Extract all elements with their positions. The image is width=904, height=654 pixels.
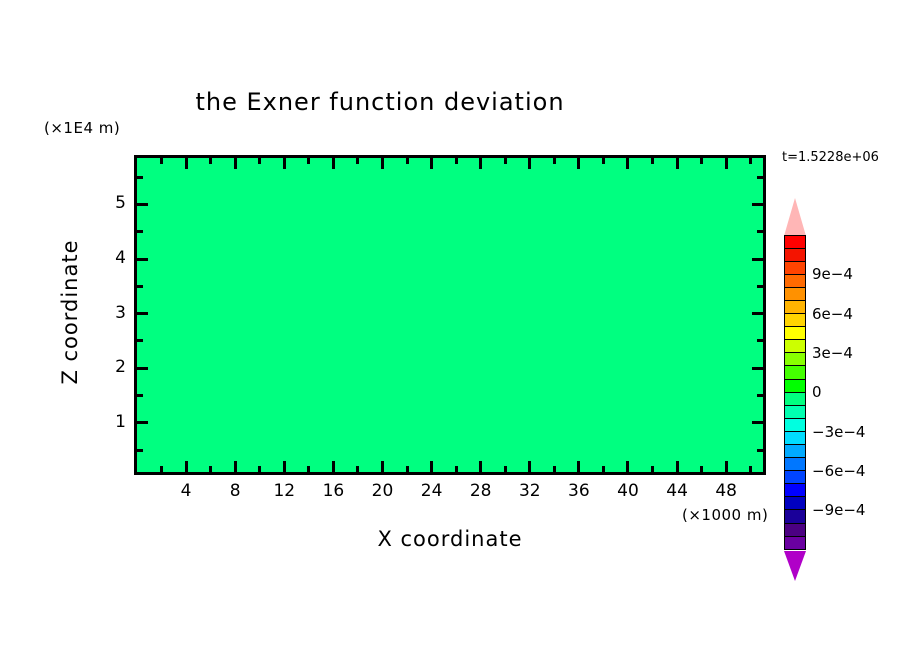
x-axis-tick-minor bbox=[160, 466, 163, 472]
y-axis-tick-label: 3 bbox=[96, 303, 126, 323]
colorbar-tick-label: −9e−4 bbox=[812, 501, 865, 519]
x-axis-tick-major bbox=[577, 461, 580, 472]
timestamp-annotation: t=1.5228e+06 bbox=[782, 150, 879, 165]
y-axis-tick-minor bbox=[137, 394, 143, 397]
x-axis-tick-major bbox=[676, 461, 679, 472]
colorbar-tick-label: −6e−4 bbox=[812, 462, 865, 480]
x-axis-tick-label: 48 bbox=[706, 481, 746, 501]
x-axis-tick-minor-top bbox=[602, 158, 605, 164]
x-axis-tick-label: 44 bbox=[657, 481, 697, 501]
y-axis-tick-major bbox=[137, 312, 148, 315]
x-axis-tick-minor-top bbox=[258, 158, 261, 164]
x-axis-tick-minor-top bbox=[209, 158, 212, 164]
x-axis-tick-minor bbox=[209, 466, 212, 472]
colorbar-tick-label: 6e−4 bbox=[812, 305, 853, 323]
x-axis-tick-major bbox=[725, 461, 728, 472]
y-axis-tick-major bbox=[137, 367, 148, 370]
x-axis-tick-label: 24 bbox=[412, 481, 452, 501]
contour-field bbox=[137, 158, 763, 472]
x-axis-tick-major-top bbox=[626, 158, 629, 169]
x-axis-tick-minor-top bbox=[749, 158, 752, 164]
y-axis-tick-minor bbox=[137, 285, 143, 288]
x-axis-tick-label: 8 bbox=[215, 481, 255, 501]
x-axis-tick-major-top bbox=[725, 158, 728, 169]
x-axis-tick-minor bbox=[553, 466, 556, 472]
x-axis-tick-minor bbox=[455, 466, 458, 472]
x-axis-tick-minor bbox=[406, 466, 409, 472]
colorbar-cap-bottom-icon bbox=[784, 551, 806, 581]
colorbar-tick-label: 3e−4 bbox=[812, 344, 853, 362]
x-axis-tick-minor bbox=[504, 466, 507, 472]
y-axis-tick-minor-right bbox=[757, 339, 763, 342]
x-axis-tick-minor bbox=[700, 466, 703, 472]
y-axis-tick-minor-right bbox=[757, 176, 763, 179]
figure-title: the Exner function deviation bbox=[0, 88, 760, 116]
x-axis-tick-major-top bbox=[185, 158, 188, 169]
x-axis-tick-major-top bbox=[676, 158, 679, 169]
x-axis-tick-label: 12 bbox=[264, 481, 304, 501]
y-axis-tick-minor-right bbox=[757, 394, 763, 397]
colorbar-tick-label: 9e−4 bbox=[812, 265, 853, 283]
y-axis-tick-major-right bbox=[752, 203, 763, 206]
x-axis-tick-label: 4 bbox=[166, 481, 206, 501]
x-axis-tick-label: 28 bbox=[461, 481, 501, 501]
x-axis-tick-minor-top bbox=[455, 158, 458, 164]
colorbar-tick-label: −3e−4 bbox=[812, 423, 865, 441]
x-axis-tick-minor bbox=[651, 466, 654, 472]
x-axis-tick-major bbox=[185, 461, 188, 472]
x-axis-tick-major bbox=[381, 461, 384, 472]
contour-plot-area bbox=[134, 155, 766, 475]
y-axis-tick-minor bbox=[137, 339, 143, 342]
y-axis-tick-minor bbox=[137, 230, 143, 233]
y-axis-tick-minor-right bbox=[757, 230, 763, 233]
x-axis-tick-minor-top bbox=[307, 158, 310, 164]
x-axis-title: X coordinate bbox=[134, 527, 766, 551]
x-axis-tick-major-top bbox=[234, 158, 237, 169]
colorbar-tick-label: 0 bbox=[812, 383, 822, 401]
y-axis-tick-major-right bbox=[752, 258, 763, 261]
y-axis-tick-minor-right bbox=[757, 449, 763, 452]
y-axis-tick-major-right bbox=[752, 367, 763, 370]
colorbar-cap-top-icon bbox=[784, 198, 806, 236]
x-axis-unit-label: (×1000 m) bbox=[682, 506, 768, 524]
x-axis-tick-label: 40 bbox=[608, 481, 648, 501]
x-axis-tick-major bbox=[332, 461, 335, 472]
x-axis-tick-minor bbox=[602, 466, 605, 472]
x-axis-tick-minor-top bbox=[504, 158, 507, 164]
y-axis-tick-label: 2 bbox=[96, 357, 126, 377]
x-axis-tick-major-top bbox=[332, 158, 335, 169]
x-axis-tick-minor-top bbox=[553, 158, 556, 164]
x-axis-tick-minor bbox=[307, 466, 310, 472]
x-axis-tick-major bbox=[479, 461, 482, 472]
y-axis-tick-minor bbox=[137, 176, 143, 179]
y-axis-unit-label: (×1E4 m) bbox=[44, 119, 120, 137]
x-axis-tick-major-top bbox=[381, 158, 384, 169]
x-axis-tick-major-top bbox=[430, 158, 433, 169]
y-axis-tick-label: 1 bbox=[96, 412, 126, 432]
x-axis-tick-major-top bbox=[283, 158, 286, 169]
x-axis-tick-label: 32 bbox=[510, 481, 550, 501]
y-axis-tick-major bbox=[137, 203, 148, 206]
x-axis-tick-minor bbox=[258, 466, 261, 472]
y-axis-tick-minor-right bbox=[757, 285, 763, 288]
x-axis-tick-minor-top bbox=[160, 158, 163, 164]
y-axis-tick-major-right bbox=[752, 312, 763, 315]
y-axis-tick-minor bbox=[137, 449, 143, 452]
x-axis-tick-minor-top bbox=[356, 158, 359, 164]
y-axis-tick-major-right bbox=[752, 421, 763, 424]
colorbar-cell bbox=[784, 536, 806, 551]
colorbar-cells bbox=[784, 236, 806, 550]
colorbar bbox=[780, 198, 810, 493]
x-axis-tick-minor-top bbox=[651, 158, 654, 164]
x-axis-tick-minor-top bbox=[406, 158, 409, 164]
x-axis-tick-major bbox=[528, 461, 531, 472]
x-axis-tick-minor bbox=[356, 466, 359, 472]
x-axis-tick-major-top bbox=[528, 158, 531, 169]
x-axis-tick-major-top bbox=[577, 158, 580, 169]
x-axis-tick-major bbox=[283, 461, 286, 472]
x-axis-tick-label: 20 bbox=[362, 481, 402, 501]
x-axis-tick-minor bbox=[749, 466, 752, 472]
x-axis-tick-major-top bbox=[479, 158, 482, 169]
x-axis-tick-minor-top bbox=[700, 158, 703, 164]
x-axis-tick-major bbox=[234, 461, 237, 472]
y-axis-tick-label: 5 bbox=[96, 193, 126, 213]
figure-canvas: the Exner function deviation (×1E4 m) t=… bbox=[0, 0, 904, 654]
x-axis-tick-label: 36 bbox=[559, 481, 599, 501]
x-axis-tick-major bbox=[626, 461, 629, 472]
y-axis-tick-major bbox=[137, 258, 148, 261]
x-axis-tick-major bbox=[430, 461, 433, 472]
y-axis-title: Z coordinate bbox=[58, 212, 82, 412]
x-axis-tick-label: 16 bbox=[313, 481, 353, 501]
y-axis-tick-label: 4 bbox=[96, 248, 126, 268]
y-axis-tick-major bbox=[137, 421, 148, 424]
